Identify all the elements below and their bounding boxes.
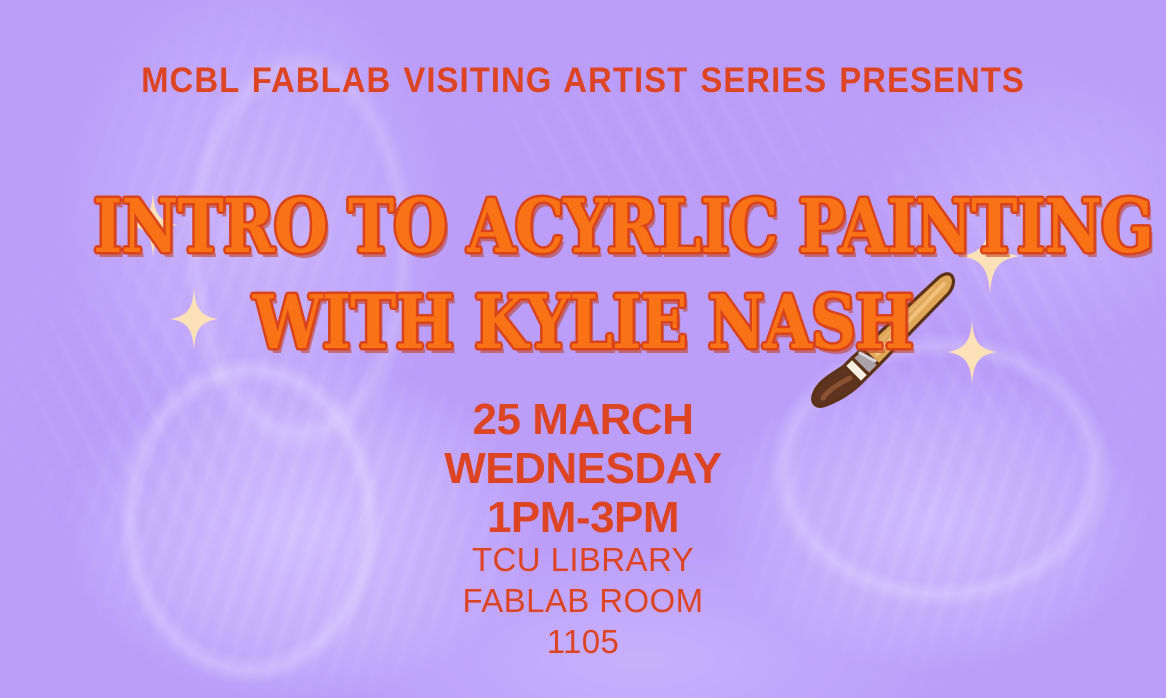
event-time: 1PM-3PM	[0, 496, 1166, 540]
poster-title-line-2: WITH KYLIE NASH	[93, 288, 1072, 360]
venue-line-2: FABLAB ROOM	[0, 584, 1166, 617]
venue-line-3: 1105	[0, 625, 1166, 658]
poster-eyebrow-text: MCBL FABLAB VISITING ARTIST SERIES PRESE…	[35, 60, 1131, 101]
event-venue-block: TCU LIBRARY FABLAB ROOM 1105	[0, 543, 1166, 666]
poster-title-block: INTRO TO ACYRLIC PAINTING WITH KYLIE NAS…	[0, 192, 1166, 360]
event-weekday: WEDNESDAY	[0, 447, 1166, 491]
event-date: 25 MARCH	[0, 398, 1166, 442]
event-poster: MCBL FABLAB VISITING ARTIST SERIES PRESE…	[0, 0, 1166, 698]
venue-line-1: TCU LIBRARY	[0, 543, 1166, 576]
event-datetime-block: 25 MARCH WEDNESDAY 1PM-3PM	[0, 398, 1166, 545]
poster-title-line-1: INTRO TO ACYRLIC PAINTING	[93, 192, 1072, 264]
